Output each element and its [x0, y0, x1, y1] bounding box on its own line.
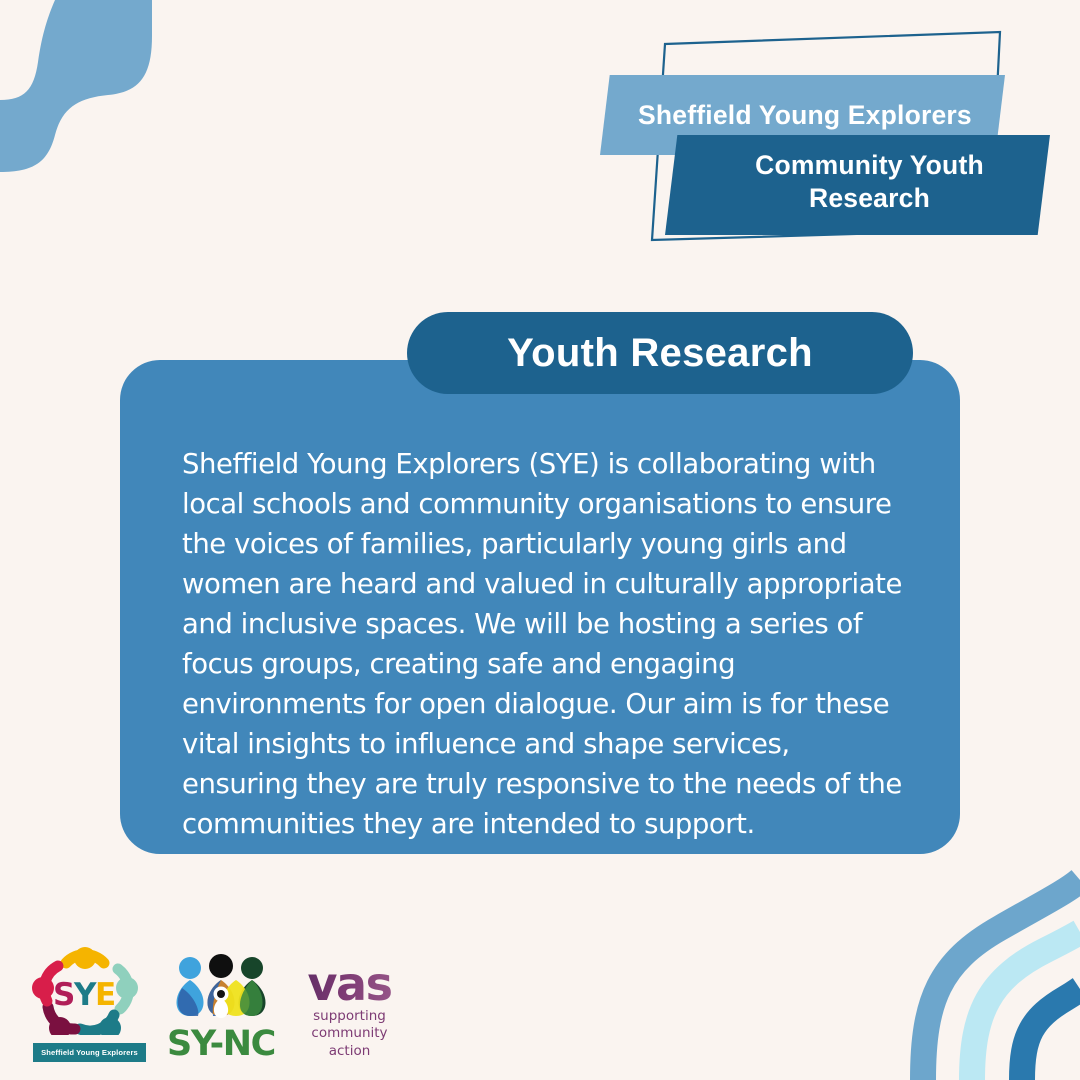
- decorative-wave-top-left: [0, 0, 230, 230]
- decorative-stripes-bottom-right: [870, 850, 1080, 1080]
- svg-text:Y: Y: [73, 977, 97, 1013]
- logo-sync: SY-NC: [167, 954, 275, 1062]
- sye-emblem-icon: S Y E: [30, 943, 140, 1035]
- sync-wordmark: SY-NC: [167, 1027, 275, 1062]
- banner-primary-label: Sheffield Young Explorers: [638, 100, 972, 131]
- logo-sye: S Y E Sheffield Young Explorers: [30, 943, 145, 1062]
- vas-tagline: supporting community action: [297, 1008, 402, 1060]
- card-title-pill: Youth Research: [407, 312, 913, 394]
- svg-text:S: S: [53, 977, 75, 1013]
- card-body-paragraph: Sheffield Young Explorers (SYE) is colla…: [182, 444, 904, 844]
- svg-text:E: E: [95, 977, 116, 1013]
- page-title: Youth Research: [507, 331, 813, 376]
- content-card: Youth Research Sheffield Young Explorers…: [120, 360, 960, 854]
- footer-logo-row: S Y E Sheffield Young Explorers SY-NC: [30, 932, 402, 1062]
- banner-title-secondary: Community Youth Research: [665, 135, 1050, 235]
- sync-people-icon: [168, 954, 274, 1020]
- header-banner-group: Sheffield Young Explorers Community Yout…: [590, 18, 1070, 253]
- banner-secondary-label: Community Youth Research: [707, 149, 1032, 215]
- vas-wordmark: vas: [297, 963, 402, 1005]
- sye-caption: Sheffield Young Explorers: [33, 1043, 146, 1062]
- logo-vas: vas supporting community action: [297, 963, 402, 1062]
